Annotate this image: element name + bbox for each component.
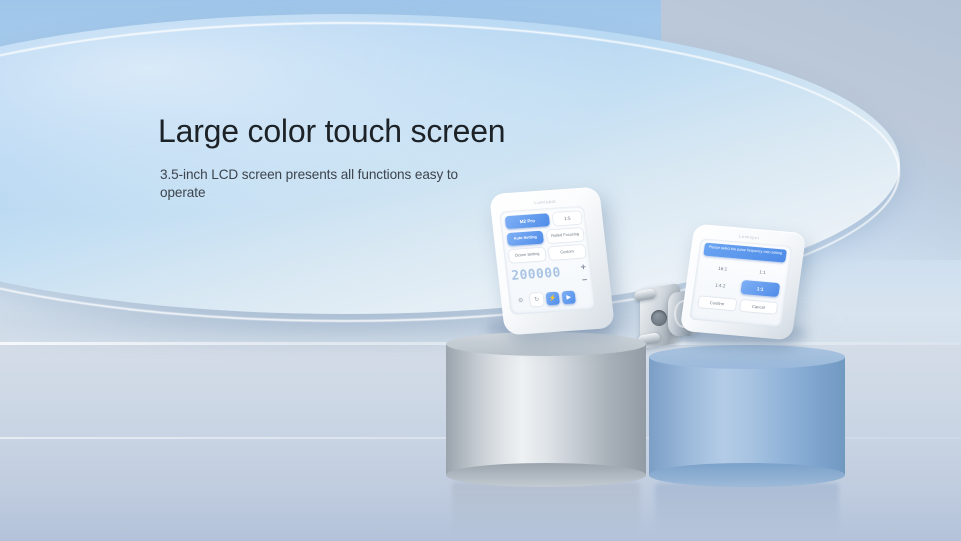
- option-custom[interactable]: Custom: [548, 245, 585, 260]
- option-grid[interactable]: Auto Setting Rolled Focusing Ozone Setti…: [507, 228, 586, 263]
- option-auto-setting[interactable]: Auto Setting: [507, 231, 544, 246]
- right-device-screen[interactable]: Please select the pulse frequency ratio …: [689, 238, 792, 327]
- ratio-option-3[interactable]: 1:1: [740, 280, 780, 297]
- gear-icon[interactable]: ⚙: [514, 294, 528, 308]
- blue-pedestal-base: [649, 463, 845, 487]
- page-title: Large color touch screen: [158, 113, 505, 151]
- refresh-icon[interactable]: ↻: [530, 293, 544, 307]
- silver-pedestal: [446, 332, 646, 487]
- increase-button[interactable]: +: [580, 263, 586, 272]
- decrease-button[interactable]: −: [582, 276, 588, 285]
- ratio-option-2[interactable]: 1:4.2: [700, 276, 740, 293]
- silver-pedestal-body: [446, 344, 646, 475]
- blue-pedestal-body: [649, 357, 845, 475]
- blue-pedestal-reflection: [655, 483, 839, 535]
- mode-row[interactable]: M2 Pro 1:5: [505, 211, 582, 229]
- left-handheld-device[interactable]: Lumispot M2 Pro 1:5 Auto Setting Rolled …: [489, 187, 615, 336]
- bracket-hole: [651, 310, 667, 326]
- cancel-button[interactable]: Cancel: [739, 300, 777, 314]
- product-hero-scene: Lumispot Please select the pulse frequen…: [0, 0, 961, 541]
- mode-button-selected[interactable]: M2 Pro: [505, 213, 550, 229]
- ratio-option-1[interactable]: 1:1: [743, 263, 783, 280]
- value-area: 200000 + −: [511, 264, 589, 291]
- ratio-display[interactable]: 1:5: [553, 211, 582, 226]
- silver-pedestal-reflection: [452, 482, 640, 538]
- right-handheld-device[interactable]: Lumispot Please select the pulse frequen…: [680, 224, 807, 341]
- left-device-brand: Lumispot: [490, 196, 600, 209]
- option-ozone-setting[interactable]: Ozone Setting: [508, 248, 545, 263]
- ratio-options-grid[interactable]: 16:1 1:1 1:4.2 1:1: [700, 260, 782, 298]
- play-icon[interactable]: ▶: [562, 290, 576, 304]
- page-subtitle: 3.5-inch LCD screen presents all functio…: [160, 166, 490, 202]
- ratio-option-0[interactable]: 16:1: [703, 260, 743, 277]
- blue-pedestal: [649, 345, 845, 487]
- value-readout: 200000: [511, 265, 562, 283]
- bottom-icon-row[interactable]: ⚙ ↻ ⚡ ▶: [514, 289, 591, 307]
- confirm-button[interactable]: Confirm: [698, 296, 736, 310]
- left-device-screen[interactable]: M2 Pro 1:5 Auto Setting Rolled Focusing …: [499, 206, 596, 315]
- option-rolled-focusing[interactable]: Rolled Focusing: [546, 228, 583, 243]
- flash-icon[interactable]: ⚡: [546, 292, 560, 306]
- silver-pedestal-base: [446, 463, 646, 487]
- dialog-button-row[interactable]: Confirm Cancel: [698, 296, 777, 314]
- silver-pedestal-top: [446, 332, 646, 356]
